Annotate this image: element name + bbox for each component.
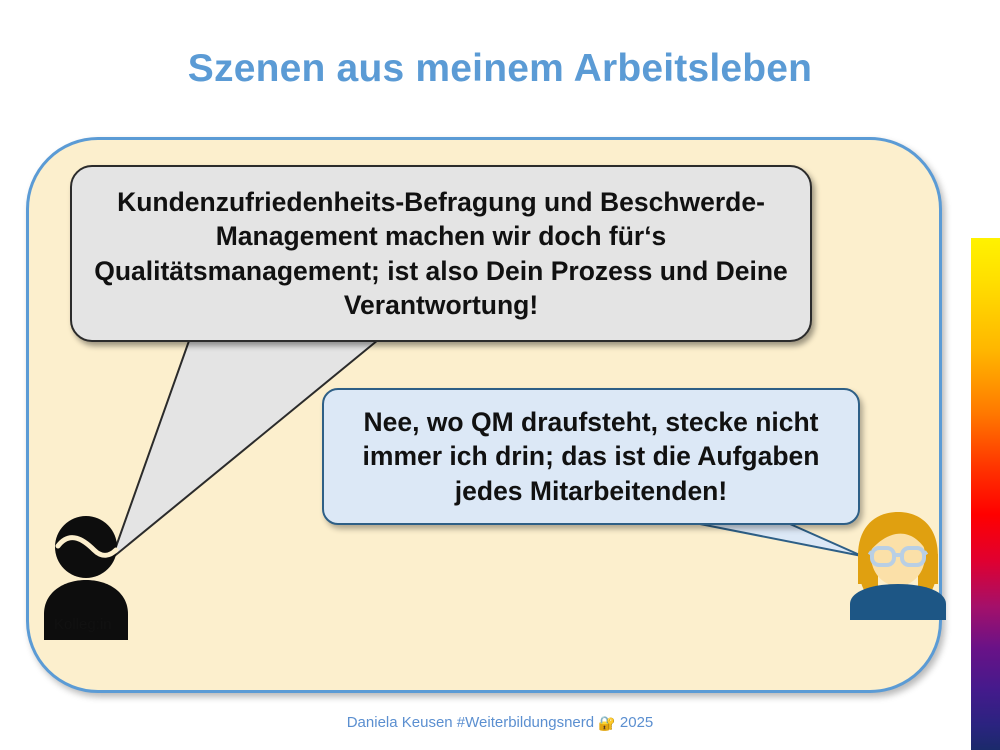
footer-credit: Daniela Keusen #Weiterbildungsnerd 🔐 202… [0, 714, 1000, 732]
speaker-avatar [838, 508, 958, 620]
color-gradient-bar [971, 238, 1000, 750]
colleague-label: Kolleg:in [54, 616, 112, 633]
page-title: Szenen aus meinem Arbeitsleben [0, 48, 1000, 91]
speaker-speech-bubble: Nee, wo QM draufsteht, stecke nicht imme… [322, 388, 860, 525]
colleague-speech-text: Kundenzufriedenheits-Befragung und Besch… [72, 185, 810, 323]
footer-author: Daniela Keusen #Weiterbildungsnerd [347, 714, 594, 731]
lock-icon: 🔐 [598, 715, 615, 731]
footer-year: 2025 [620, 714, 653, 731]
speaker-speech-text: Nee, wo QM draufsteht, stecke nicht imme… [324, 405, 858, 508]
colleague-speech-bubble: Kundenzufriedenheits-Befragung und Besch… [70, 165, 812, 342]
